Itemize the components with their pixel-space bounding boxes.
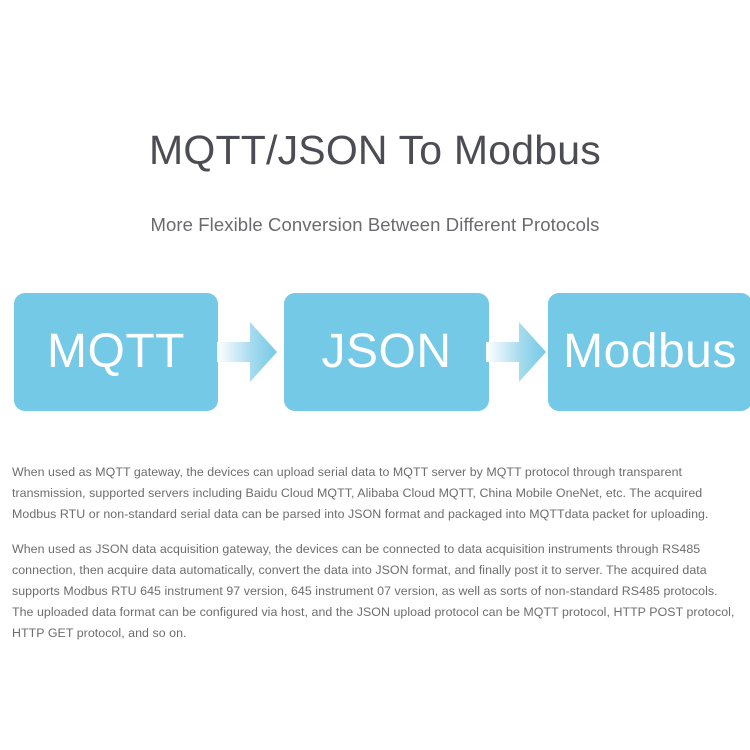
flow-box-label: JSON bbox=[321, 328, 451, 376]
protocol-flow-diagram: MQTT JSON bbox=[0, 293, 750, 411]
heading-block: MQTT/JSON To Modbus More Flexible Conver… bbox=[0, 128, 750, 236]
arrow-right-icon bbox=[486, 321, 546, 383]
body-copy: When used as MQTT gateway, the devices c… bbox=[12, 462, 738, 644]
body-paragraph-json-gateway: When used as JSON data acquisition gatew… bbox=[12, 539, 738, 644]
arrow-right-icon bbox=[217, 321, 277, 383]
product-feature-page: MQTT/JSON To Modbus More Flexible Conver… bbox=[0, 0, 750, 750]
page-subtitle: More Flexible Conversion Between Differe… bbox=[0, 174, 750, 236]
flow-box-label: MQTT bbox=[47, 328, 185, 376]
body-paragraph-mqtt-gateway: When used as MQTT gateway, the devices c… bbox=[12, 462, 738, 525]
flow-box-json: JSON bbox=[284, 293, 489, 411]
page-title: MQTT/JSON To Modbus bbox=[0, 128, 750, 174]
flow-box-mqtt: MQTT bbox=[14, 293, 218, 411]
flow-box-modbus: Modbus bbox=[548, 293, 750, 411]
flow-box-label: Modbus bbox=[563, 328, 737, 376]
